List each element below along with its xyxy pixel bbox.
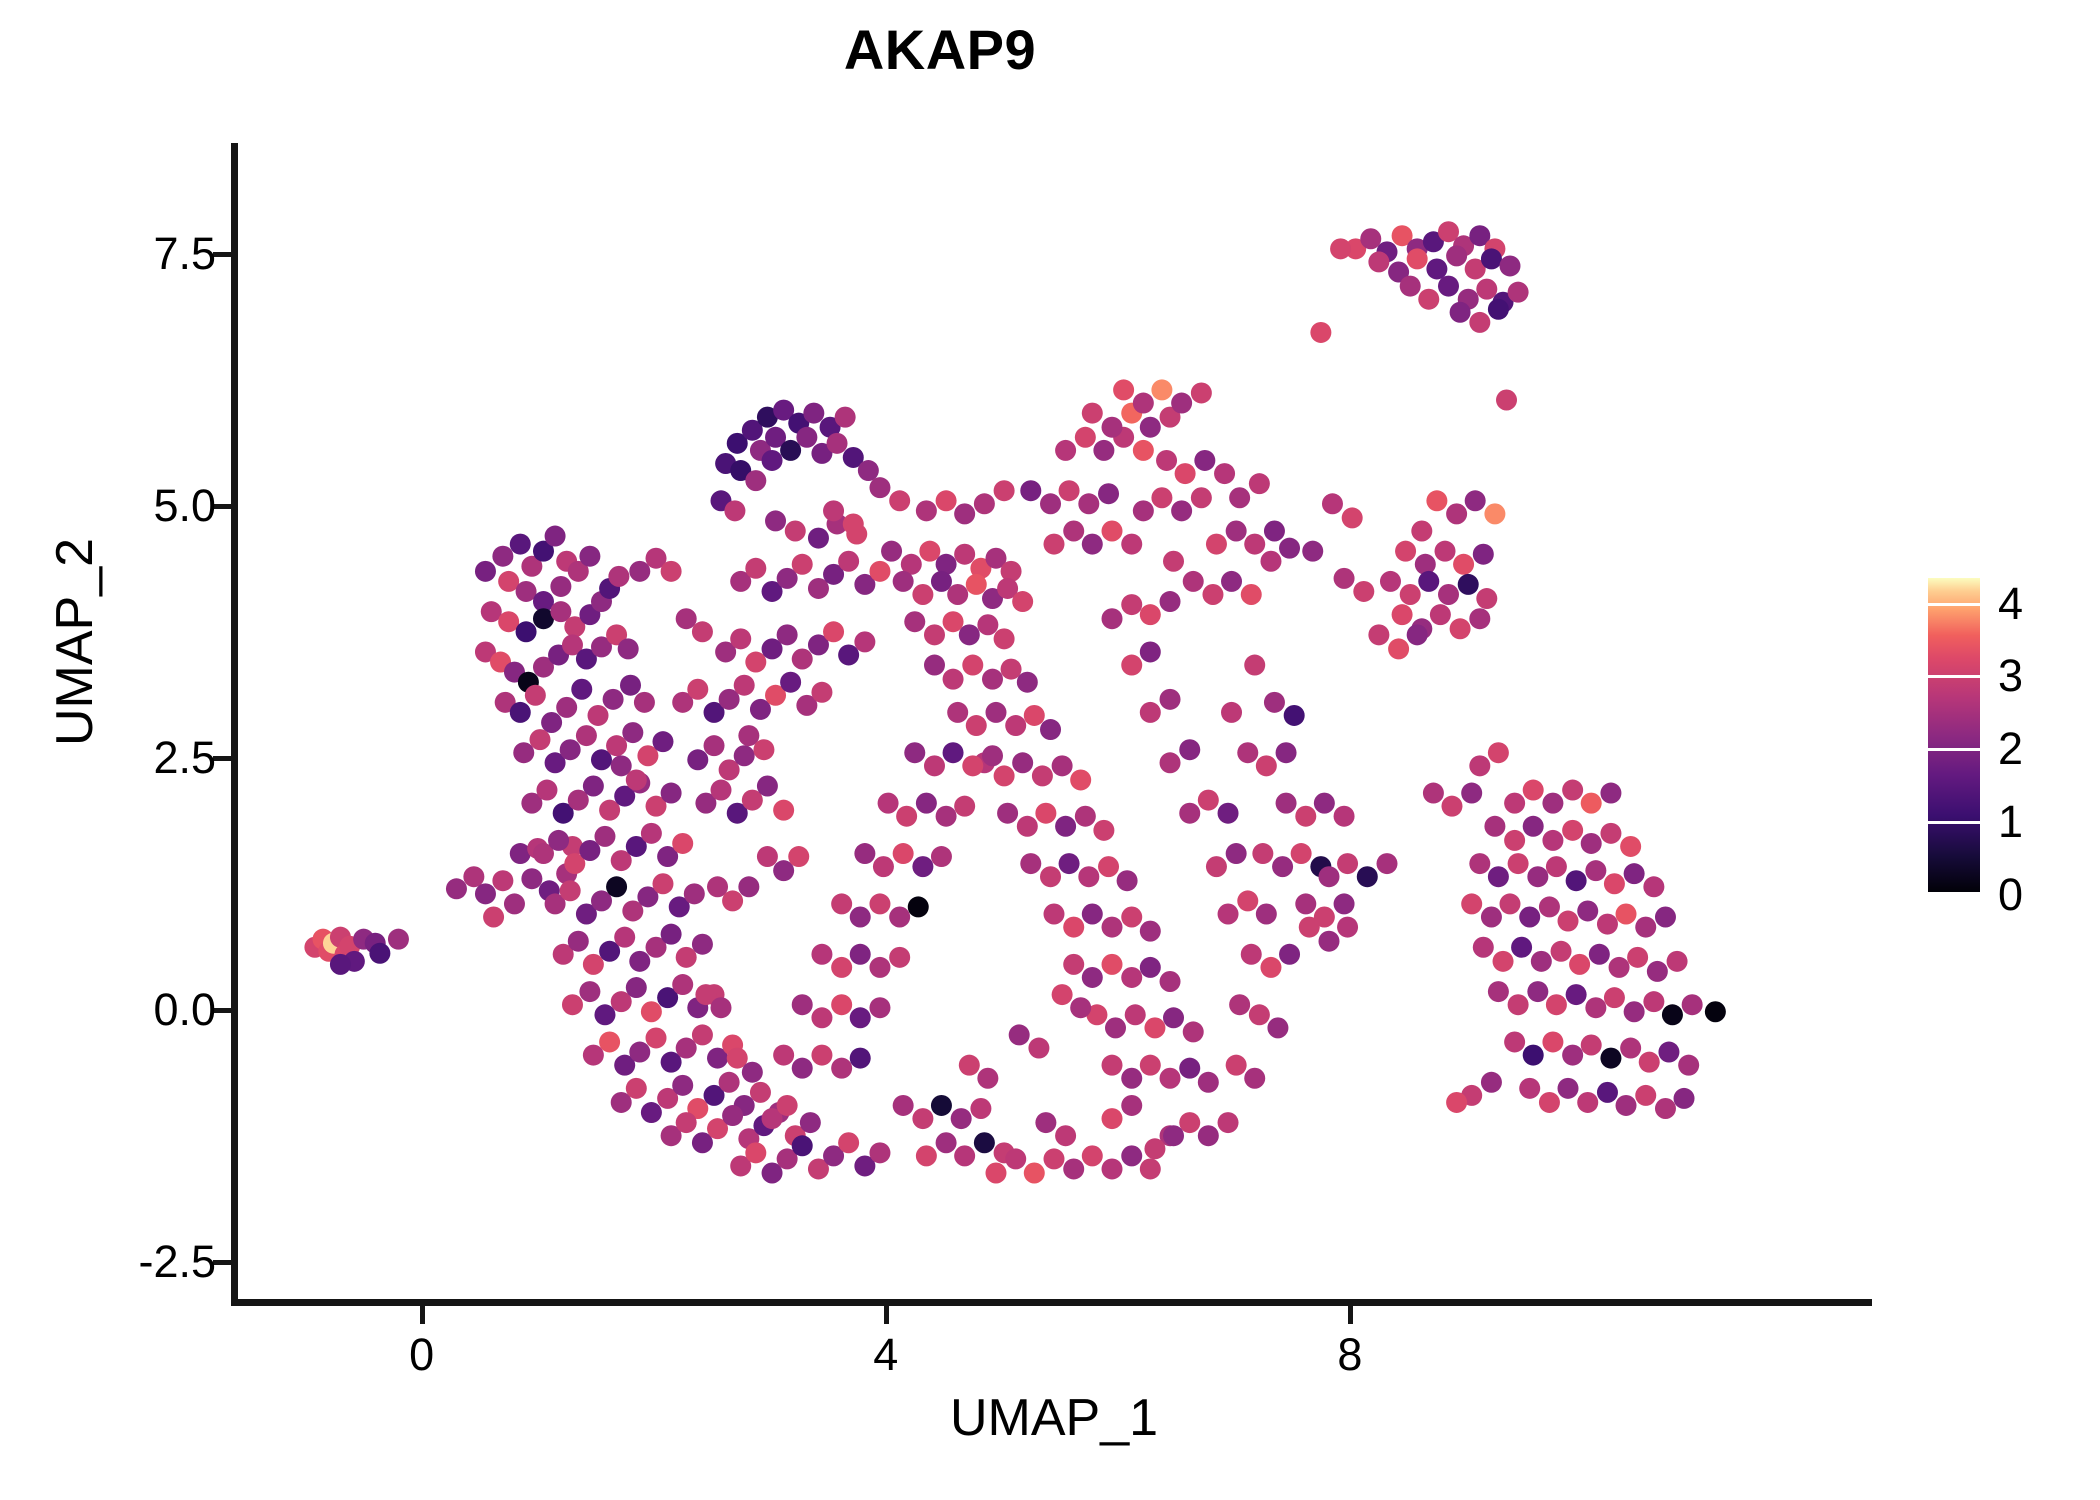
scatter-point: [1539, 1092, 1560, 1113]
scatter-point: [1005, 715, 1026, 736]
scatter-point: [869, 477, 890, 498]
scatter-point: [823, 500, 844, 521]
scatter-point: [1426, 258, 1447, 279]
scatter-point: [745, 558, 766, 579]
scatter-point: [1581, 1035, 1602, 1056]
scatter-point: [1102, 1055, 1123, 1076]
scatter-point: [780, 672, 801, 693]
scatter-point: [803, 403, 824, 424]
scatter-point: [513, 742, 534, 763]
scatter-point: [951, 1108, 972, 1129]
scatter-point: [1055, 440, 1076, 461]
scatter-point: [1102, 417, 1123, 438]
scatter-point: [889, 907, 910, 928]
scatter-point: [661, 561, 682, 582]
scatter-point: [750, 1082, 771, 1103]
scatter-point: [831, 1058, 852, 1079]
scatter-point: [687, 679, 708, 700]
scatter-point: [943, 611, 964, 632]
scatter-point: [1330, 238, 1351, 259]
scatter-point: [893, 1095, 914, 1116]
scatter-point: [962, 655, 983, 676]
scatter-point: [711, 997, 732, 1018]
scatter-point: [745, 470, 766, 491]
x-tick-mark: [420, 1306, 425, 1324]
scatter-point: [974, 493, 995, 514]
scatter-point: [1017, 672, 1038, 693]
scatter-point: [1102, 1108, 1123, 1129]
scatter-point: [1140, 1055, 1161, 1076]
scatter-point: [1609, 957, 1630, 978]
scatter-point: [1600, 1048, 1621, 1069]
scatter-point: [548, 830, 569, 851]
scatter-point: [676, 1038, 697, 1059]
scatter-point: [510, 702, 531, 723]
scatter-point: [1125, 1004, 1146, 1025]
scatter-point: [1380, 571, 1401, 592]
scatter-point: [1493, 951, 1514, 972]
scatter-point: [1488, 981, 1509, 1002]
scatter-point: [1229, 487, 1250, 508]
scatter-point: [618, 638, 639, 659]
scatter-point: [1430, 604, 1451, 625]
scatter-point: [672, 1075, 693, 1096]
scatter-point: [1040, 866, 1061, 887]
scatter-point: [1024, 1163, 1045, 1184]
scatter-point: [1075, 806, 1096, 827]
scatter-point: [1140, 702, 1161, 723]
y-axis-title: UMAP_2: [49, 342, 101, 942]
colorbar-tick-label: 2: [1998, 726, 2023, 771]
scatter-point: [1226, 521, 1247, 542]
x-axis-line: [231, 1299, 1872, 1306]
scatter-point: [1357, 866, 1378, 887]
scatter-point: [1411, 521, 1432, 542]
scatter-point: [1226, 843, 1247, 864]
scatter-point: [1044, 534, 1065, 555]
scatter-point: [896, 806, 917, 827]
scatter-point: [912, 1108, 933, 1129]
scatter-point: [850, 907, 871, 928]
scatter-point: [1160, 752, 1181, 773]
scatter-point: [1655, 907, 1676, 928]
scatter-point: [583, 775, 604, 796]
scatter-point: [652, 873, 673, 894]
scatter-point: [1566, 984, 1587, 1005]
scatter-point: [626, 769, 647, 790]
scatter-point: [1241, 944, 1262, 965]
scatter-point: [1418, 571, 1439, 592]
scatter-point: [1476, 588, 1497, 609]
scatter-point: [811, 682, 832, 703]
scatter-point: [745, 1142, 766, 1163]
scatter-point: [622, 722, 643, 743]
scatter-point: [641, 1102, 662, 1123]
scatter-point: [1678, 1055, 1699, 1076]
scatter-point: [1256, 755, 1277, 776]
scatter-point: [800, 1112, 821, 1133]
scatter-point: [521, 868, 542, 889]
scatter-point: [1179, 803, 1200, 824]
scatter-point: [1476, 279, 1497, 300]
scatter-point: [583, 1045, 604, 1066]
scatter-point: [483, 907, 504, 928]
scatter-point: [1032, 765, 1053, 786]
scatter-point: [1279, 944, 1300, 965]
scatter-point: [1295, 893, 1316, 914]
scatter-point: [1465, 490, 1486, 511]
scatter-point: [780, 440, 801, 461]
scatter-point: [1093, 440, 1114, 461]
scatter-point: [1163, 551, 1184, 572]
scatter-point: [1407, 624, 1428, 645]
scatter-point: [672, 833, 693, 854]
scatter-point: [1191, 487, 1212, 508]
scatter-point: [583, 954, 604, 975]
scatter-point: [734, 675, 755, 696]
scatter-point: [1473, 937, 1494, 958]
scatter-point: [1206, 856, 1227, 877]
scatter-point: [1229, 994, 1250, 1015]
scatter-point: [550, 576, 571, 597]
scatter-point: [1337, 853, 1358, 874]
scatter-point: [641, 823, 662, 844]
scatter-point: [1655, 1098, 1676, 1119]
scatter-point: [1040, 493, 1061, 514]
scatter-point: [1237, 890, 1258, 911]
scatter-point: [1102, 954, 1123, 975]
scatter-point: [869, 561, 890, 582]
scatter-point: [1577, 1092, 1598, 1113]
scatter-point: [687, 749, 708, 770]
scatter-point: [1156, 450, 1177, 471]
scatter-point: [1035, 1112, 1056, 1133]
colorbar-tick-label: 3: [1998, 653, 2023, 698]
scatter-point: [1183, 1021, 1204, 1042]
scatter-point: [893, 571, 914, 592]
scatter-point: [1635, 1085, 1656, 1106]
scatter-point: [1418, 289, 1439, 310]
scatter-point: [641, 1001, 662, 1022]
scatter-point: [1334, 806, 1355, 827]
scatter-point: [1102, 1158, 1123, 1179]
scatter-point: [1264, 521, 1285, 542]
scatter-point: [1473, 544, 1494, 565]
scatter-point: [1121, 907, 1142, 928]
scatter-point: [1102, 608, 1123, 629]
scatter-point: [1523, 816, 1544, 837]
scatter-point: [1562, 1045, 1583, 1066]
scatter-point: [893, 843, 914, 864]
colorbar-gradient: [1928, 578, 1980, 895]
scatter-point: [785, 521, 806, 542]
scatter-point: [1052, 984, 1073, 1005]
scatter-point: [1499, 255, 1520, 276]
scatter-point: [788, 846, 809, 867]
scatter-point: [629, 1042, 650, 1063]
y-tick-label: 7.5: [153, 231, 216, 276]
colorbar-tick-mark: [1928, 675, 1980, 678]
scatter-point: [606, 735, 627, 756]
scatter-point: [646, 1027, 667, 1048]
scatter-point: [889, 490, 910, 511]
y-axis-line: [231, 143, 238, 1306]
scatter-point: [1674, 1088, 1695, 1109]
scatter-point: [541, 712, 562, 733]
scatter-point: [1082, 967, 1103, 988]
scatter-point: [1179, 1058, 1200, 1079]
scatter-point: [676, 1112, 697, 1133]
scatter-point: [1441, 796, 1462, 817]
scatter-point: [1299, 917, 1320, 938]
scatter-point: [982, 745, 1003, 766]
scatter-point: [369, 943, 390, 964]
scatter-point: [504, 893, 525, 914]
scatter-point: [1600, 783, 1621, 804]
scatter-point: [614, 927, 635, 948]
scatter-point: [1070, 769, 1091, 790]
scatter-point: [924, 624, 945, 645]
x-tick-mark: [884, 1306, 889, 1324]
scatter-point: [1604, 873, 1625, 894]
scatter-point: [1082, 903, 1103, 924]
scatter-point: [1469, 608, 1490, 629]
scatter-point: [1163, 1125, 1184, 1146]
scatter-point: [1488, 299, 1509, 320]
scatter-point: [1400, 276, 1421, 297]
scatter-point: [878, 793, 899, 814]
scatter-point: [1059, 853, 1080, 874]
page-title: AKAP9: [0, 22, 1880, 78]
scatter-point: [529, 729, 550, 750]
scatter-point: [912, 584, 933, 605]
scatter-point: [1458, 574, 1479, 595]
scatter-point: [792, 994, 813, 1015]
scatter-point: [970, 1098, 991, 1119]
scatter-point: [1481, 248, 1502, 269]
scatter-point: [1643, 991, 1664, 1012]
scatter-point: [719, 1072, 740, 1093]
scatter-point: [974, 1132, 995, 1153]
scatter-point: [889, 947, 910, 968]
scatter-point: [1446, 503, 1467, 524]
scatter-point: [1260, 957, 1281, 978]
scatter-point: [811, 1045, 832, 1066]
scatter-point: [1291, 843, 1312, 864]
scatter-point: [1082, 534, 1103, 555]
x-tick-label: 8: [1290, 1332, 1410, 1377]
scatter-point: [463, 866, 484, 887]
scatter-point: [1175, 463, 1196, 484]
scatter-point: [850, 1007, 871, 1028]
scatter-point: [1342, 507, 1363, 528]
scatter-point: [1600, 823, 1621, 844]
scatter-point: [1314, 793, 1335, 814]
scatter-point: [734, 745, 755, 766]
scatter-point: [1198, 1072, 1219, 1093]
scatter-point: [1484, 503, 1505, 524]
scatter-point: [1244, 1068, 1265, 1089]
scatter-point: [1044, 1148, 1065, 1169]
scatter-point: [916, 500, 937, 521]
colorbar-tick-mark: [1928, 821, 1980, 824]
scatter-point: [1562, 780, 1583, 801]
scatter-point: [1218, 1112, 1239, 1133]
scatter-point: [1249, 473, 1270, 494]
scatter-point: [1469, 755, 1490, 776]
scatter-point: [1151, 487, 1172, 508]
scatter-point: [1318, 931, 1339, 952]
scatter-point: [850, 1048, 871, 1069]
scatter-point: [1453, 554, 1474, 575]
scatter-point: [560, 880, 581, 901]
scatter-point: [1484, 816, 1505, 837]
x-tick-label: 4: [826, 1332, 946, 1377]
scatter-point: [525, 685, 546, 706]
scatter-point: [831, 957, 852, 978]
scatter-point: [1063, 521, 1084, 542]
scatter-point: [796, 427, 817, 448]
scatter-point: [556, 697, 577, 718]
colorbar-tick-mark: [1928, 603, 1980, 606]
scatter-point: [1705, 1001, 1726, 1022]
scatter-point: [1191, 382, 1212, 403]
scatter-point: [1488, 742, 1509, 763]
scatter-point: [1028, 1038, 1049, 1059]
scatter-point: [1508, 853, 1529, 874]
scatter-point: [936, 490, 957, 511]
scatter-point: [765, 510, 786, 531]
scatter-point: [684, 883, 705, 904]
scatter-point: [330, 954, 351, 975]
scatter-point: [1469, 853, 1490, 874]
scatter-point: [1276, 742, 1297, 763]
scatter-point: [1562, 820, 1583, 841]
scatter-point: [1012, 591, 1033, 612]
scatter-point: [1450, 618, 1471, 639]
scatter-point: [1020, 853, 1041, 874]
scatter-point: [1160, 971, 1181, 992]
scatter-point: [1121, 594, 1142, 615]
scatter-point: [869, 997, 890, 1018]
scatter-point: [757, 775, 778, 796]
scatter-point: [1461, 893, 1482, 914]
scatter-point: [1267, 1017, 1288, 1038]
scatter-point: [1546, 994, 1567, 1015]
scatter-point: [959, 1055, 980, 1076]
scatter-point: [1121, 655, 1142, 676]
scatter-point: [1044, 903, 1065, 924]
scatter-point: [516, 621, 537, 642]
scatter-point: [1163, 1007, 1184, 1028]
scatter-point: [594, 1004, 615, 1025]
scatter-point: [1546, 856, 1567, 877]
scatter-point: [762, 450, 783, 471]
scatter-point: [777, 624, 798, 645]
scatter-point: [676, 608, 697, 629]
scatter-point: [811, 944, 832, 965]
scatter-point: [1244, 655, 1265, 676]
scatter-point: [1407, 248, 1428, 269]
scatter-point: [823, 621, 844, 642]
scatter-point: [1070, 997, 1091, 1018]
scatter-point: [560, 739, 581, 760]
scatter-point: [1276, 793, 1297, 814]
scatter-point: [1140, 641, 1161, 662]
scatter-point: [475, 561, 496, 582]
scatter-point: [692, 621, 713, 642]
scatter-point: [722, 1105, 743, 1126]
scatter-point: [773, 800, 794, 821]
scatter-point: [1113, 379, 1134, 400]
scatter-point: [959, 624, 980, 645]
scatter-point: [579, 546, 600, 567]
scatter-point: [858, 460, 879, 481]
scatter-point: [1221, 702, 1242, 723]
scatter-point: [985, 702, 1006, 723]
scatter-point: [1272, 856, 1293, 877]
scatter-point: [1368, 251, 1389, 272]
scatter-point: [1635, 917, 1656, 938]
scatter-point: [742, 1062, 763, 1083]
scatter-point: [1643, 876, 1664, 897]
colorbar-tick-label: 0: [1998, 872, 2023, 917]
scatter-point: [1001, 659, 1022, 680]
scatter-point: [1511, 937, 1532, 958]
scatter-point: [1488, 866, 1509, 887]
scatter-point: [571, 679, 592, 700]
scatter-point: [753, 739, 774, 760]
scatter-point: [1481, 907, 1502, 928]
scatter-point: [1198, 1125, 1219, 1146]
scatter-point: [827, 433, 848, 454]
scatter-point: [1569, 954, 1590, 975]
scatter-point: [1585, 860, 1606, 881]
scatter-point: [843, 513, 864, 534]
scatter-point: [1508, 994, 1529, 1015]
scatter-point: [954, 544, 975, 565]
scatter-point: [916, 1145, 937, 1166]
scatter-point: [606, 876, 627, 897]
scatter-point: [1496, 390, 1517, 411]
scatter-point: [1597, 914, 1618, 935]
scatter-point: [1435, 541, 1456, 562]
scatter-point: [994, 628, 1015, 649]
scatter-point: [1063, 917, 1084, 938]
scatter-point: [1133, 393, 1154, 414]
scatter-point: [745, 652, 766, 673]
scatter-point: [982, 669, 1003, 690]
scatter-point: [881, 541, 902, 562]
scatter-point: [562, 994, 583, 1015]
scatter-point: [1133, 440, 1154, 461]
scatter-point: [1523, 1045, 1544, 1066]
scatter-point: [1121, 967, 1142, 988]
scatter-point: [1616, 1095, 1637, 1116]
scatter-point: [1140, 604, 1161, 625]
scatter-point: [629, 561, 650, 582]
scatter-point: [1133, 500, 1154, 521]
scatter-point: [1284, 705, 1305, 726]
scatter-point: [1218, 903, 1239, 924]
scatter-point: [1423, 783, 1444, 804]
colorbar-tick-label: 1: [1998, 799, 2023, 844]
scatter-point: [1226, 1055, 1247, 1076]
scatter-point: [1078, 866, 1099, 887]
scatter-point: [629, 951, 650, 972]
scatter-point: [1531, 951, 1552, 972]
scatter-point: [931, 846, 952, 867]
